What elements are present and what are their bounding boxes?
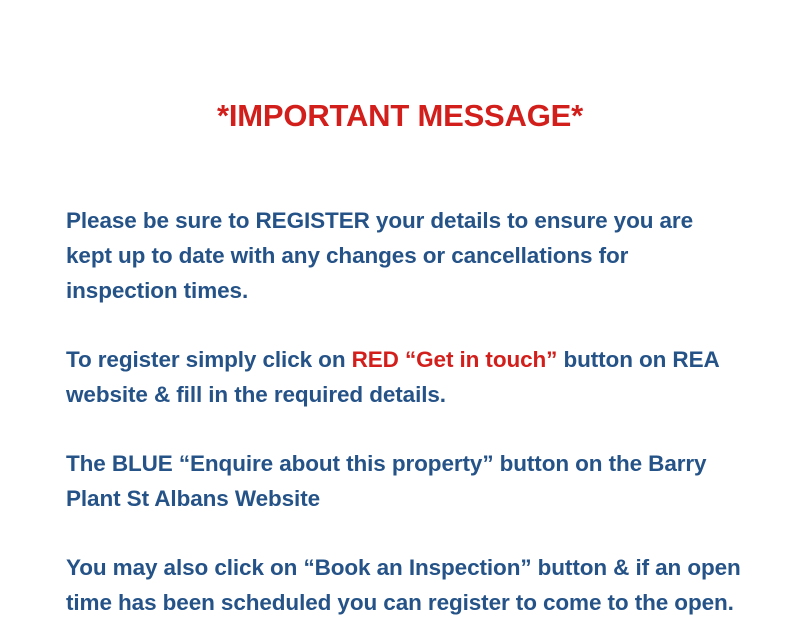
paragraph-run-text: To register simply click on [66, 347, 352, 372]
paragraph-barry-plant-enquire: The BLUE “Enquire about this property” b… [66, 446, 741, 516]
slide-canvas: *IMPORTANT MESSAGE* Please be sure to RE… [0, 0, 800, 600]
page-title: *IMPORTANT MESSAGE* [0, 98, 800, 134]
paragraph-run-text: Please be sure to REGISTER your details … [66, 208, 693, 303]
paragraph-register-details: Please be sure to REGISTER your details … [66, 203, 741, 308]
paragraph-book-an-inspection: You may also click on “Book an Inspectio… [66, 550, 741, 620]
highlight-get-in-touch: RED “Get in touch” [352, 347, 558, 372]
paragraph-rea-get-in-touch: To register simply click on RED “Get in … [66, 342, 741, 412]
paragraph-run-text: The BLUE “Enquire about this property” b… [66, 451, 706, 511]
slide-body: Please be sure to REGISTER your details … [66, 203, 741, 620]
paragraph-run-text: You may also click on “Book an Inspectio… [66, 555, 741, 615]
